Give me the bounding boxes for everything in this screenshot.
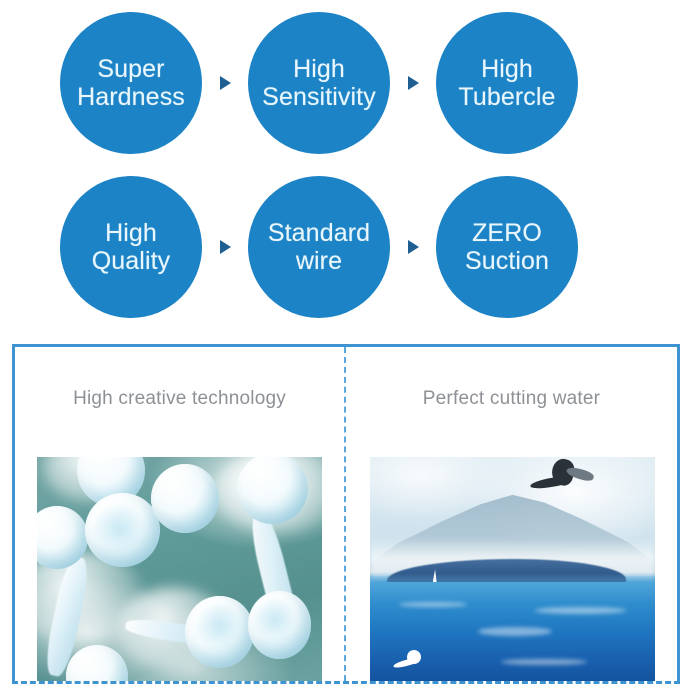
flow-row-1: Super Hardness High Sensitivity High Tub… <box>0 8 700 158</box>
flow-arrow-1 <box>202 12 248 154</box>
flow-node-label: High Sensitivity <box>248 55 390 112</box>
flow-node-high-quality[interactable]: High Quality <box>60 176 202 318</box>
ice-scene-background <box>37 457 322 681</box>
ice-frost <box>197 605 243 650</box>
triangle-right-icon <box>408 76 419 90</box>
flow-node-high-tubercle[interactable]: High Tubercle <box>436 12 578 154</box>
triangle-right-icon <box>408 240 419 254</box>
flow-node-standard-wire[interactable]: Standard wire <box>248 176 390 318</box>
flow-node-high-sensitivity[interactable]: High Sensitivity <box>248 12 390 154</box>
process-flow-diagram: Super Hardness High Sensitivity High Tub… <box>0 0 700 335</box>
ice-frost <box>94 506 145 555</box>
flow-arrow-2 <box>390 12 436 154</box>
triangle-right-icon <box>220 240 231 254</box>
ice-sphere <box>151 464 219 533</box>
flow-node-label: High Tubercle <box>436 55 578 112</box>
flow-node-zero-suction[interactable]: ZERO Suction <box>436 176 578 318</box>
sea-scene-background <box>370 457 655 681</box>
ice-frost <box>254 600 297 643</box>
sea-island-seagull-photo <box>370 457 655 681</box>
feature-panel: High creative technology <box>12 344 680 684</box>
feature-caption-right: Perfect cutting water <box>346 347 677 457</box>
flow-row-2: High Quality Standard wire ZERO Suction <box>0 172 700 322</box>
seagull-icon <box>530 461 600 501</box>
flow-node-super-hardness[interactable]: Super Hardness <box>60 12 202 154</box>
feature-caption-left: High creative technology <box>15 347 344 457</box>
water-glint <box>399 602 467 608</box>
feature-column-right: Perfect cutting water <box>346 347 677 681</box>
water-glint <box>535 607 626 614</box>
flow-node-label: Standard wire <box>248 219 390 276</box>
ice-sphere <box>66 645 129 681</box>
flow-arrow-4 <box>390 176 436 318</box>
flow-node-label: ZERO Suction <box>436 219 578 276</box>
ice-sphere <box>237 457 308 524</box>
ice-molecule-photo <box>37 457 322 681</box>
flow-arrow-3 <box>202 176 248 318</box>
feature-column-left: High creative technology <box>15 347 346 681</box>
flow-node-label: Super Hardness <box>60 55 202 112</box>
triangle-right-icon <box>220 76 231 90</box>
flow-node-label: High Quality <box>60 219 202 276</box>
seagull-icon-small <box>393 650 433 672</box>
